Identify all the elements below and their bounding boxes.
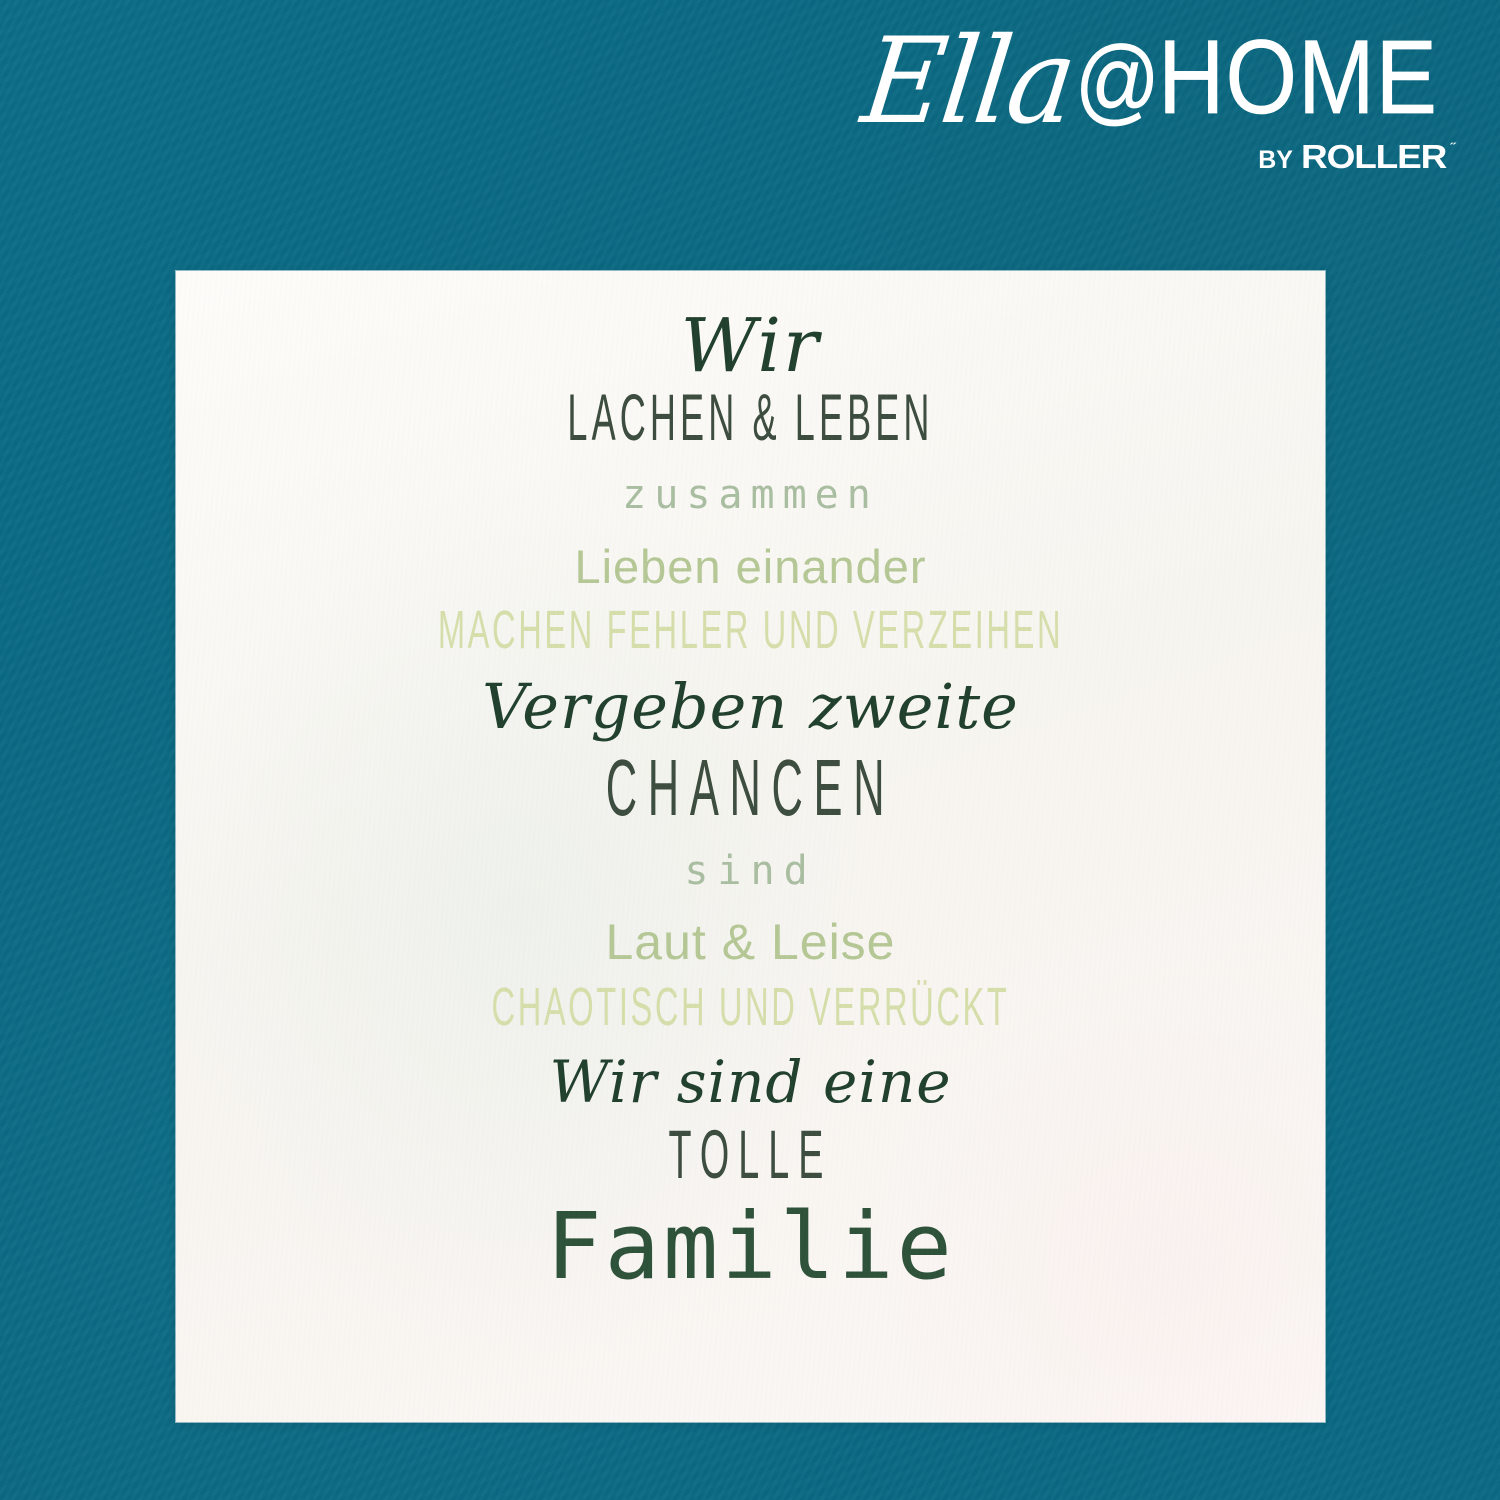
poem-line-11: Wir sind eine <box>176 1053 1325 1111</box>
brand-name-home: @HOME <box>1075 26 1438 131</box>
poem-text-block: Wir Lachen & Leben zusammen Lieben einan… <box>176 271 1325 1293</box>
poem-line-4: Lieben einander <box>176 543 1325 590</box>
brand-logo: Ella @HOME BY ROLLER˝ <box>857 26 1438 173</box>
brand-logo-wordmark: Ella @HOME <box>857 26 1438 132</box>
byline-brand-text: ROLLER <box>1301 138 1446 175</box>
poster-advertisement-canvas: Ella @HOME BY ROLLER˝ Wir Lachen & Leben… <box>0 0 1500 1500</box>
poster-panel: Wir Lachen & Leben zusammen Lieben einan… <box>176 271 1325 1422</box>
poem-line-9: Laut & Leise <box>176 917 1325 967</box>
poem-line-3: zusammen <box>176 475 1325 515</box>
brand-name-script: Ella <box>857 26 1079 139</box>
poem-line-6: Vergeben zweite <box>176 676 1325 738</box>
poem-line-8: sind <box>176 851 1325 891</box>
poem-line-5: Machen Fehler und verzeihen <box>256 604 1244 658</box>
poem-line-13: Familie <box>176 1201 1325 1293</box>
at-symbol-icon: @ <box>1075 27 1158 134</box>
byline-brand: ROLLER˝ <box>1301 140 1450 173</box>
byline-prefix: BY <box>1258 148 1293 173</box>
brand-name-caps: HOME <box>1158 20 1438 136</box>
poem-line-10: Chaotisch und verrückt <box>256 981 1244 1035</box>
poem-line-2: Lachen & Leben <box>279 386 1221 452</box>
poem-line-1: Wir <box>176 309 1325 383</box>
poem-line-12: Tolle <box>279 1120 1221 1189</box>
registered-trademark-icon: ˝ <box>1451 140 1455 155</box>
poem-line-7: Chancen <box>279 749 1221 829</box>
